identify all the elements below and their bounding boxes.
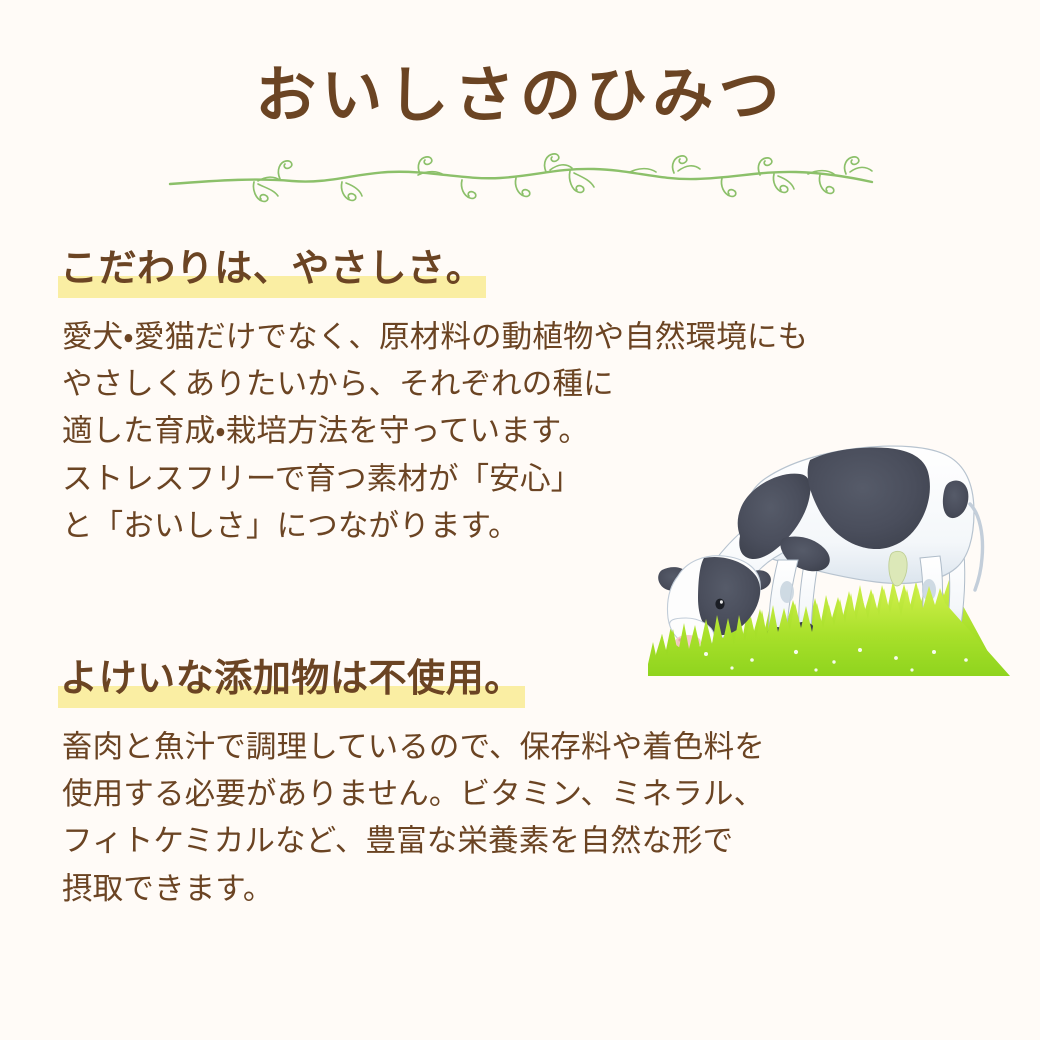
section-heading-2-label: よけいな添加物は不使用。: [60, 656, 523, 700]
title-block: おいしさのひみつ: [0, 62, 1040, 130]
section-body-2: 畜肉と魚汁で調理しているので、保存料や着色料を 使用する必要がありません。ビタミ…: [62, 724, 765, 913]
section-heading-1-label: こだわりは、やさしさ。: [60, 246, 484, 290]
page-title: おいしさのひみつ: [0, 62, 1040, 130]
section-body-1: 愛犬・愛猫だけでなく、原材料の動植物や自然環境にも やさしくありたいから、それぞ…: [62, 314, 808, 550]
section-heading-2: よけいな添加物は不使用。: [58, 653, 525, 710]
section-tenkabutsu: よけいな添加物は不使用。 畜肉と魚汁で調理しているので、保存料や着色料を 使用す…: [58, 653, 765, 913]
vine-divider-icon: [162, 152, 878, 210]
section-kodawari: こだわりは、やさしさ。 愛犬・愛猫だけでなく、原材料の動植物や自然環境にも やさ…: [58, 243, 808, 550]
section-heading-1: こだわりは、やさしさ。: [58, 243, 486, 300]
promo-page: おいしさのひみつ: [0, 0, 1040, 1040]
